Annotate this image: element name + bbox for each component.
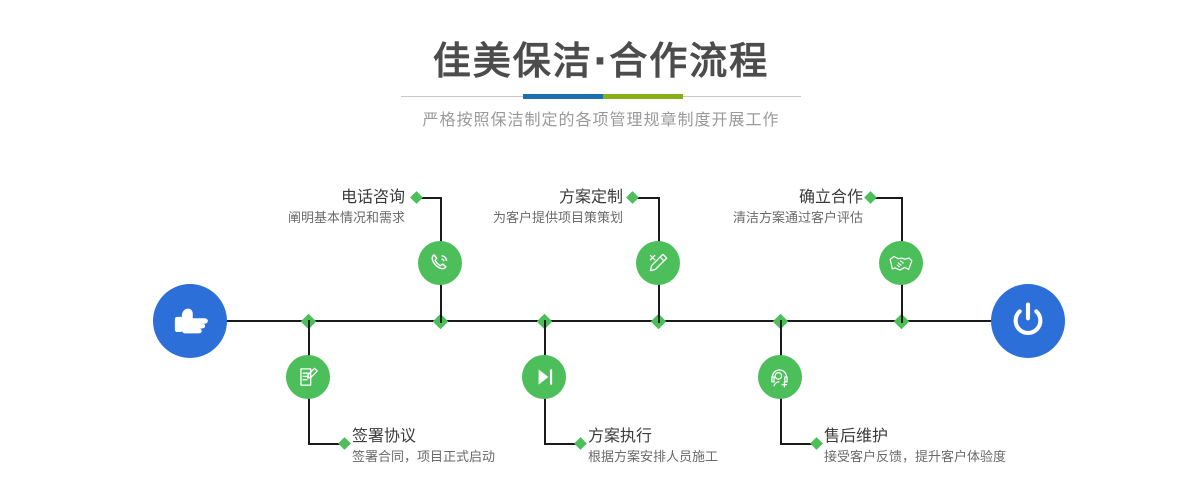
step-label-6: 售后维护 接受客户反馈，提升客户体验度 — [824, 426, 1154, 468]
step-label-3: 方案定制 为客户提供项目策策划 — [370, 187, 623, 229]
flow-start-node — [153, 284, 227, 358]
step-desc-3: 为客户提供项目策策划 — [370, 209, 623, 229]
sign-document-icon — [295, 364, 321, 390]
step-icon-1 — [418, 241, 462, 285]
step-icon-5 — [879, 241, 923, 285]
phone-call-icon — [427, 250, 453, 276]
header: 佳美保洁·合作流程 严格按照保洁制定的各项管理规章制度开展工作 — [0, 0, 1202, 150]
branch-tip-5 — [864, 191, 877, 204]
process-flow-infographic: 佳美保洁·合作流程 严格按照保洁制定的各项管理规章制度开展工作 — [0, 0, 1202, 502]
pencil-design-icon — [645, 250, 671, 276]
step-desc-1: 阐明基本情况和需求 — [150, 209, 405, 229]
flow-end-node — [991, 284, 1065, 358]
branch-tip-2 — [338, 437, 351, 450]
step-title-1: 电话咨询 — [150, 187, 405, 207]
step-icon-4 — [522, 355, 566, 399]
handshake-icon — [888, 250, 914, 276]
step-desc-6: 接受客户反馈，提升客户体验度 — [824, 448, 1154, 468]
play-execute-icon — [531, 364, 557, 390]
step-title-3: 方案定制 — [370, 187, 623, 207]
step-title-6: 售后维护 — [824, 426, 1154, 446]
step-desc-5: 清洁方案通过客户评估 — [610, 209, 863, 229]
branch-arm-2 — [308, 443, 342, 445]
title-divider — [401, 94, 801, 100]
divider-segment-blue — [523, 94, 603, 99]
page-subtitle: 严格按照保洁制定的各项管理规章制度开展工作 — [0, 106, 1202, 130]
step-icon-3 — [636, 241, 680, 285]
pointing-hand-icon — [168, 299, 212, 343]
branch-arm-4 — [544, 443, 578, 445]
page-title: 佳美保洁·合作流程 — [0, 38, 1202, 84]
power-icon — [1006, 299, 1050, 343]
customer-service-icon — [767, 364, 793, 390]
step-label-5: 确立合作 清洁方案通过客户评估 — [610, 187, 863, 229]
step-icon-6 — [758, 355, 802, 399]
step-label-1: 电话咨询 阐明基本情况和需求 — [150, 187, 405, 229]
step-icon-2 — [286, 355, 330, 399]
divider-segment-green — [603, 94, 683, 99]
branch-arm-6 — [780, 443, 814, 445]
step-title-5: 确立合作 — [610, 187, 863, 207]
